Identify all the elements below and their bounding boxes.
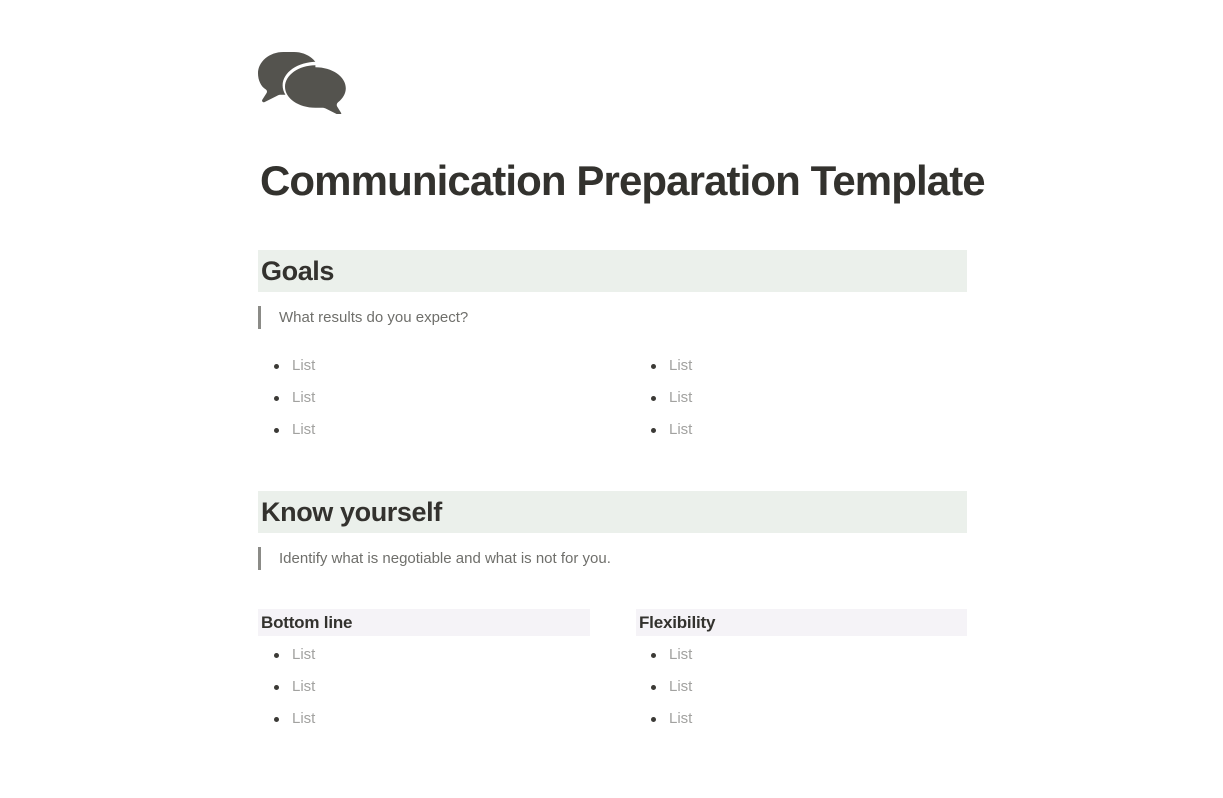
list-item-label: List: [279, 708, 315, 730]
list-item[interactable]: List: [258, 414, 636, 446]
section-header-goals: Goals: [258, 250, 967, 292]
section-heading-text: Goals: [258, 255, 334, 287]
list-item[interactable]: List: [258, 703, 590, 735]
section-heading-text: Know yourself: [258, 496, 442, 528]
list-item[interactable]: List: [258, 639, 590, 671]
flexibility-list: List List List: [635, 639, 967, 735]
list-item-label: List: [656, 355, 692, 377]
section-description-know-yourself: Identify what is negotiable and what is …: [258, 547, 611, 570]
goals-list-column-right: List List List: [635, 350, 967, 446]
list-item[interactable]: List: [635, 414, 967, 446]
section-header-know-yourself: Know yourself: [258, 491, 967, 533]
subsection-header-bottom-line: Bottom line: [258, 609, 590, 636]
list-item[interactable]: List: [635, 703, 967, 735]
section-description-goals: What results do you expect?: [258, 306, 468, 329]
bottom-line-list: List List List: [258, 639, 590, 735]
list-item[interactable]: List: [258, 671, 590, 703]
list-item[interactable]: List: [258, 382, 636, 414]
section-description-text: What results do you expect?: [261, 307, 468, 329]
list-item[interactable]: List: [635, 639, 967, 671]
list-item[interactable]: List: [635, 671, 967, 703]
list-item-label: List: [279, 387, 315, 409]
list-item[interactable]: List: [258, 350, 636, 382]
subsection-heading-text: Bottom line: [258, 612, 352, 634]
list-item[interactable]: List: [635, 382, 967, 414]
subsection-header-flexibility: Flexibility: [636, 609, 967, 636]
list-item-label: List: [279, 419, 315, 441]
page-title: Communication Preparation Template: [260, 155, 1220, 207]
list-item-label: List: [656, 419, 692, 441]
subsection-heading-text: Flexibility: [636, 612, 715, 634]
list-item-label: List: [656, 644, 692, 666]
list-item-label: List: [279, 355, 315, 377]
list-item-label: List: [656, 676, 692, 698]
list-item-label: List: [656, 387, 692, 409]
list-item-label: List: [279, 644, 315, 666]
section-description-text: Identify what is negotiable and what is …: [261, 548, 611, 570]
list-item[interactable]: List: [635, 350, 967, 382]
goals-list-column-left: List List List: [258, 350, 636, 446]
list-item-label: List: [279, 676, 315, 698]
speech-bubbles-icon: [258, 52, 350, 114]
list-item-label: List: [656, 708, 692, 730]
